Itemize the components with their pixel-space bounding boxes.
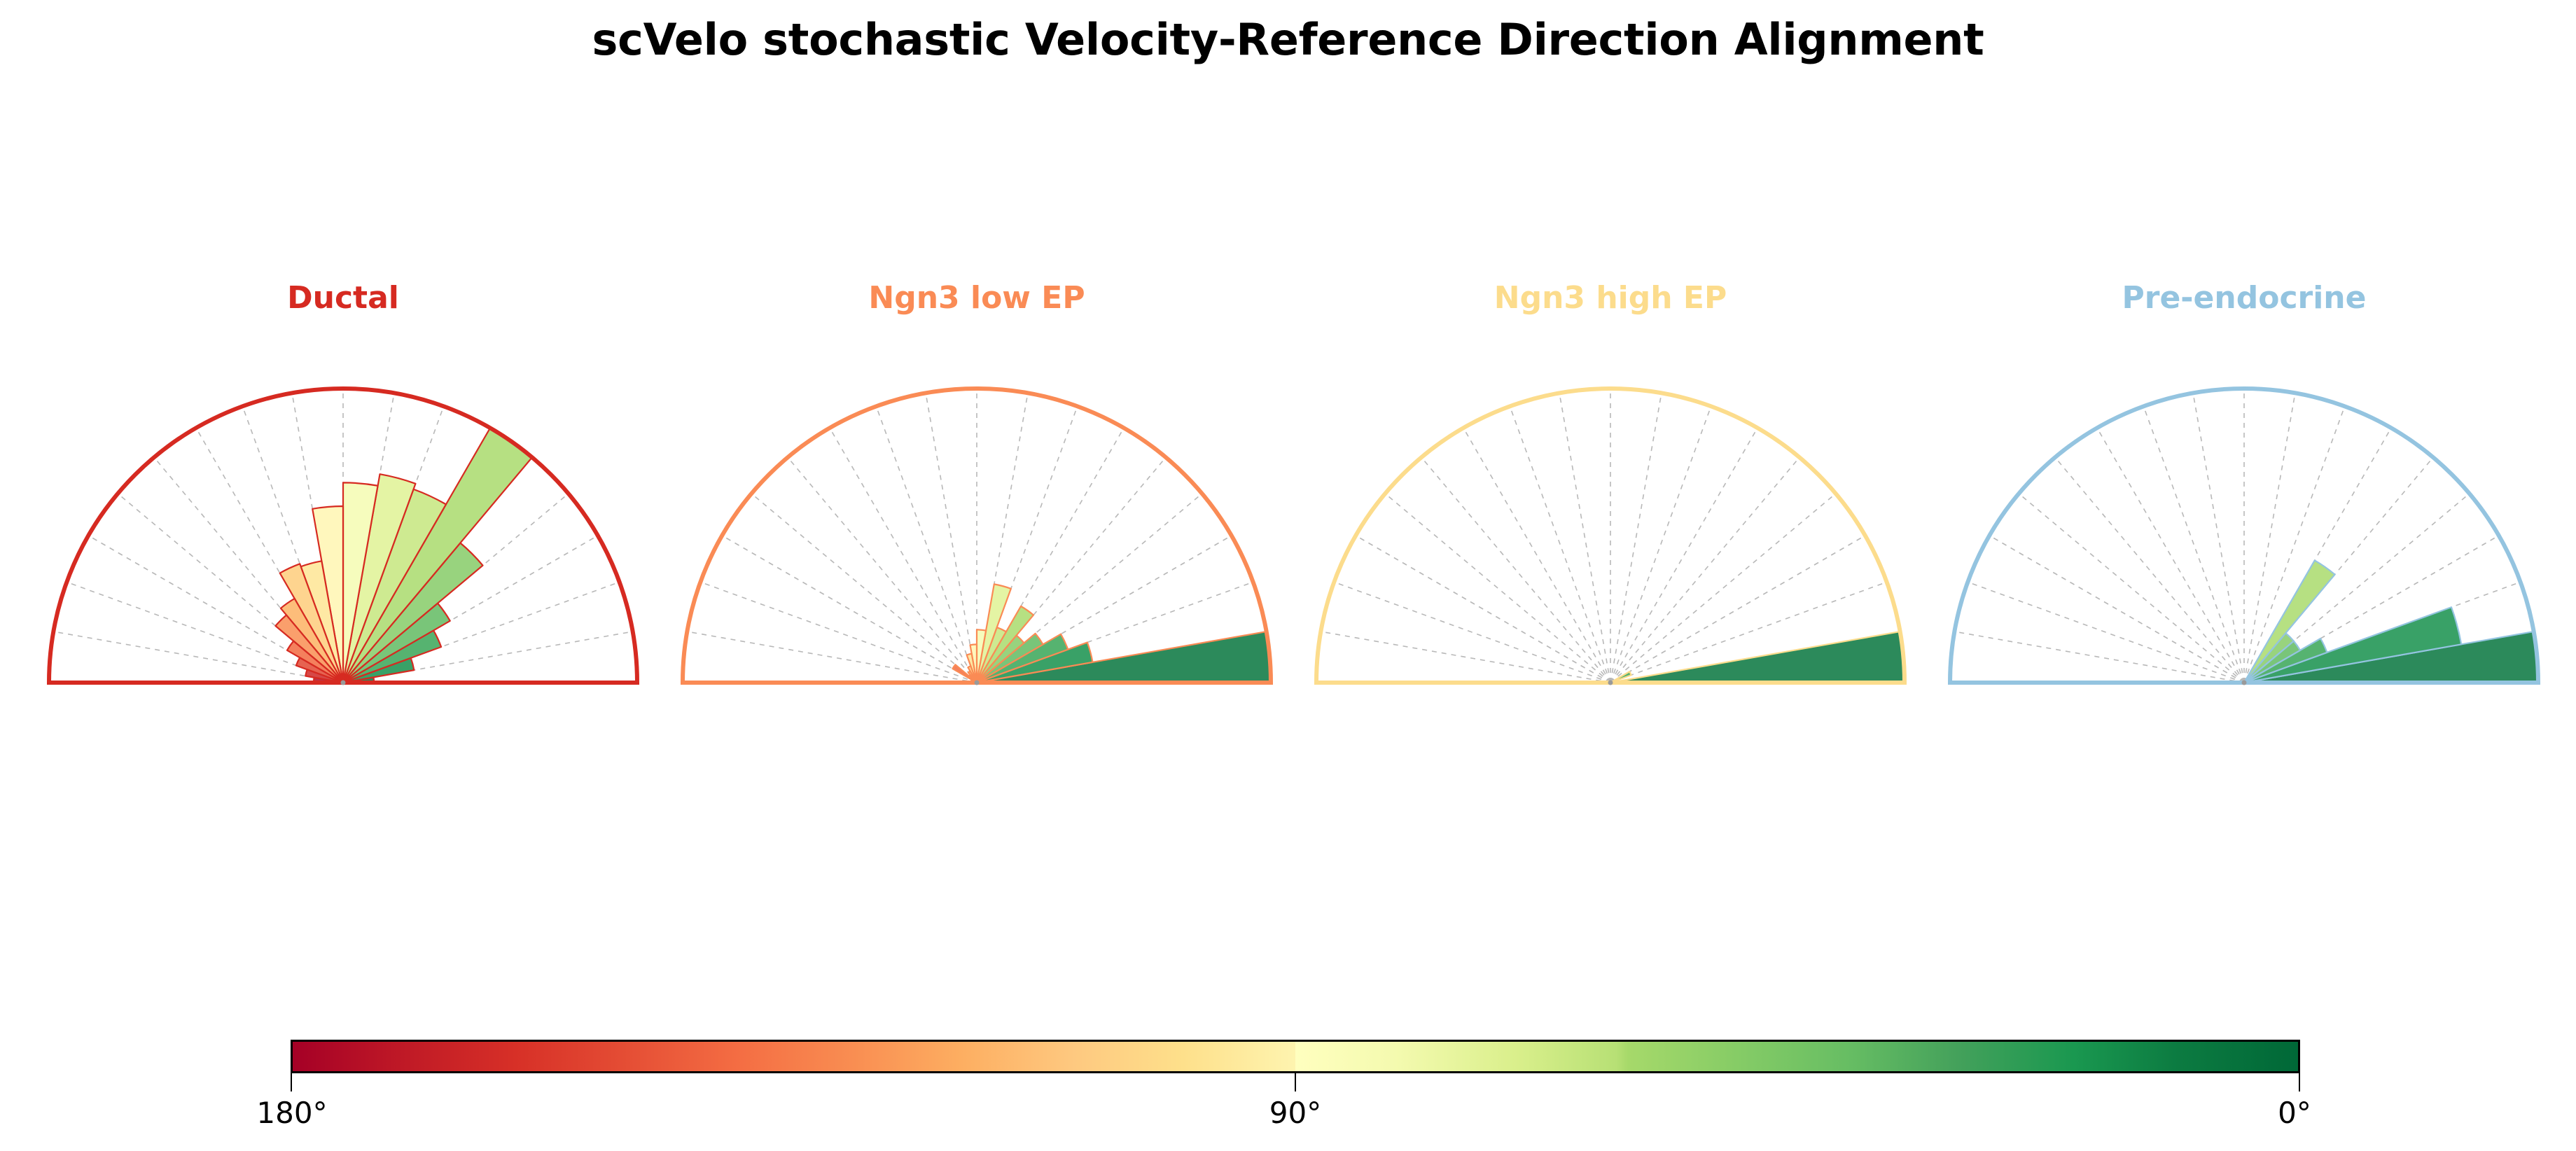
gridline-140deg [1385,494,1610,683]
gridline-70deg [1610,406,1711,683]
rose-chart-ngn3-high-ep [1309,333,1912,725]
gridline-130deg [2055,457,2244,683]
rose-bars [2244,560,2538,683]
polar-origin-marker [341,681,346,685]
panel-title-pre-endocrine: Pre-endocrine [1943,280,2545,316]
panel-title-ngn3-low-ep: Ngn3 low EP [676,280,1278,316]
gridline-160deg [1968,582,2244,683]
gridline-140deg [751,494,977,683]
polar-origin-marker [975,681,980,685]
panel-title-ductal: Ductal [42,280,644,316]
gridline-140deg [2019,494,2244,683]
gridline-110deg [2143,406,2244,683]
colorbar: 180° 90° 0° [291,1040,2300,1131]
gridline-130deg [788,457,977,683]
gridline-130deg [1421,457,1610,683]
polar-panel-pre-endocrine: Pre-endocrine [1943,280,2545,728]
panel-title-ngn3-high-ep: Ngn3 high EP [1309,280,1912,316]
colorbar-tick-90 [1295,1073,1296,1091]
polar-origin-marker [2242,681,2247,685]
gridline-50deg [1610,457,1799,683]
polar-panel-ngn3-low-ep: Ngn3 low EP [676,280,1278,728]
colorbar-tick-180 [291,1073,292,1091]
rose-bars [275,428,531,683]
rose-chart-ductal [42,333,644,725]
polar-axes [42,333,644,725]
polar-panel-ductal: Ductal [42,280,644,728]
gridline-110deg [1510,406,1610,683]
polar-axes [676,333,1278,725]
angular-gridlines [1321,389,1900,683]
rose-chart-pre-endocrine [1943,333,2545,725]
colorbar-tick-0 [2299,1073,2300,1091]
page-title: scVelo stochastic Velocity-Reference Dir… [0,14,2576,65]
gridline-160deg [700,582,977,683]
polar-panel-ngn3-high-ep: Ngn3 high EP [1309,280,1912,728]
rose-chart-ngn3-low-ep [676,333,1278,725]
gridline-110deg [876,406,977,683]
rose-bars [952,584,1271,683]
colorbar-label-180: 180° [256,1096,327,1130]
colorbar-label-0: 0° [2278,1096,2311,1130]
polar-axes [1943,333,2545,725]
polar-panels-row: Ductal Ngn3 low EP Ngn3 high EP Pre-endo… [0,280,2576,728]
colorbar-label-90: 90° [1269,1096,1321,1130]
colorbar-gradient-strip [291,1040,2300,1073]
polar-origin-marker [1608,681,1613,685]
figure-canvas: scVelo stochastic Velocity-Reference Dir… [0,0,2576,1151]
polar-axes [1309,333,1912,725]
gridline-160deg [1334,582,1610,683]
